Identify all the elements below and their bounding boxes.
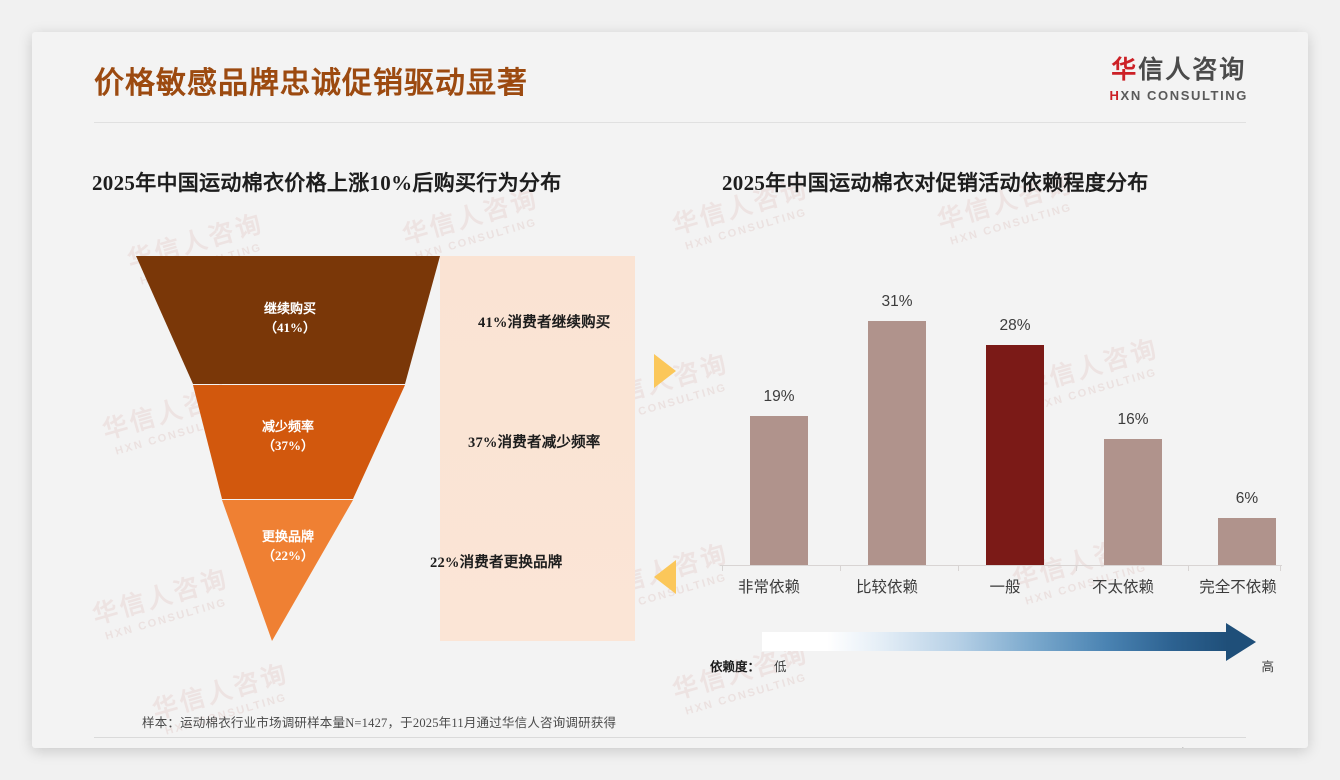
x-axis-label-4: 完全不依赖 xyxy=(1172,575,1304,597)
bar-value-4: 6% xyxy=(1207,490,1287,508)
footer-divider xyxy=(94,737,1246,738)
funnel-stage-1-label: 继续购买 （41%） xyxy=(215,300,365,338)
legend-high-label: 高 xyxy=(1261,656,1274,675)
x-axis-tick xyxy=(840,565,841,571)
x-axis-label-2: 一般 xyxy=(945,575,1065,597)
dependency-gradient-legend: 依赖度： 低 高 xyxy=(710,624,1290,682)
funnel-note-1: 41%消费者继续购买 xyxy=(478,311,611,332)
logo-en-rest: XN CONSULTING xyxy=(1121,88,1248,103)
gradient-bar xyxy=(762,632,1228,651)
sample-note: 样本：运动棉衣行业市场调研样本量N=1427，于2025年11月通过华信人咨询调… xyxy=(142,712,616,731)
gradient-arrow-icon xyxy=(1226,623,1256,661)
funnel-stage-2-value: （37%） xyxy=(262,438,314,453)
logo-chinese: 华信人咨询 xyxy=(1110,58,1248,84)
x-axis-tick xyxy=(722,565,723,571)
page-title: 价格敏感品牌忠诚促销驱动显著 xyxy=(94,58,528,102)
slide-header: 价格敏感品牌忠诚促销驱动显著 华信人咨询 HXN CONSULTING xyxy=(32,32,1308,124)
watermark-en: HXN CONSULTING xyxy=(949,199,1081,247)
table-row xyxy=(1218,518,1276,565)
bar-value-0: 19% xyxy=(739,388,819,406)
logo-english: HXN CONSULTING xyxy=(1110,88,1248,103)
play-left-icon xyxy=(654,560,676,594)
right-section-title: 2025年中国运动棉衣对促销活动依赖程度分布 xyxy=(722,167,1149,197)
x-axis-tick xyxy=(1280,565,1281,571)
bar-value-1: 31% xyxy=(857,293,937,311)
watermark-en: HXN CONSULTING xyxy=(684,204,816,252)
footer-website: www.hxrcon.com xyxy=(1152,746,1246,748)
funnel-stage-3-label: 更换品牌 （22%） xyxy=(213,528,363,566)
table-row xyxy=(1104,439,1162,565)
funnel-stage-3-value: （22%） xyxy=(262,548,314,563)
table-row xyxy=(868,321,926,565)
funnel-chart: 继续购买 （41%） 减少频率 （37%） 更换品牌 （22%） 41%消费者继… xyxy=(100,256,635,646)
table-row xyxy=(750,416,808,565)
x-axis-tick xyxy=(1076,565,1077,571)
dependency-bar-chart: 19% 31% 28% 16% 6% 非常依赖 比较依赖 一般 不太依赖 完全不… xyxy=(710,290,1290,590)
x-axis-tick xyxy=(1188,565,1189,571)
header-divider xyxy=(94,122,1246,123)
funnel-stage-2-label: 减少频率 （37%） xyxy=(213,418,363,456)
legend-caption: 依赖度： xyxy=(710,656,760,675)
brand-logo: 华信人咨询 HXN CONSULTING xyxy=(1110,58,1248,103)
funnel-stage-2-name: 减少频率 xyxy=(262,419,314,434)
funnel-stage-1-value: （41%） xyxy=(264,320,316,335)
play-right-icon xyxy=(654,354,676,388)
left-section-title: 2025年中国运动棉衣价格上涨10%后购买行为分布 xyxy=(92,167,562,197)
funnel-note-2: 37%消费者减少频率 xyxy=(468,431,601,452)
table-row xyxy=(986,345,1044,565)
x-axis-label-3: 不太依赖 xyxy=(1063,575,1183,597)
funnel-note-3: 22%消费者更换品牌 xyxy=(430,551,563,572)
funnel-stage-1-name: 继续购买 xyxy=(264,301,316,316)
logo-cn-red: 华 xyxy=(1111,57,1138,84)
x-axis-label-1: 比较依赖 xyxy=(827,575,947,597)
slide-card: 华信人咨询HXN CONSULTING 华信人咨询HXN CONSULTING … xyxy=(32,32,1308,748)
funnel-stage-3-name: 更换品牌 xyxy=(262,529,314,544)
x-axis-line xyxy=(720,565,1282,566)
logo-cn-rest: 信人咨询 xyxy=(1138,57,1246,84)
x-axis-tick xyxy=(958,565,959,571)
bar-plot-area: 19% 31% 28% 16% 6% xyxy=(720,290,1280,565)
x-axis-label-0: 非常依赖 xyxy=(709,575,829,597)
logo-en-red: H xyxy=(1110,88,1121,103)
legend-low-label: 低 xyxy=(774,656,787,675)
bar-value-3: 16% xyxy=(1093,411,1173,429)
footer-copyright: ©2026.1 HXR华信人咨询 xyxy=(94,746,234,748)
bar-value-2: 28% xyxy=(975,317,1055,335)
